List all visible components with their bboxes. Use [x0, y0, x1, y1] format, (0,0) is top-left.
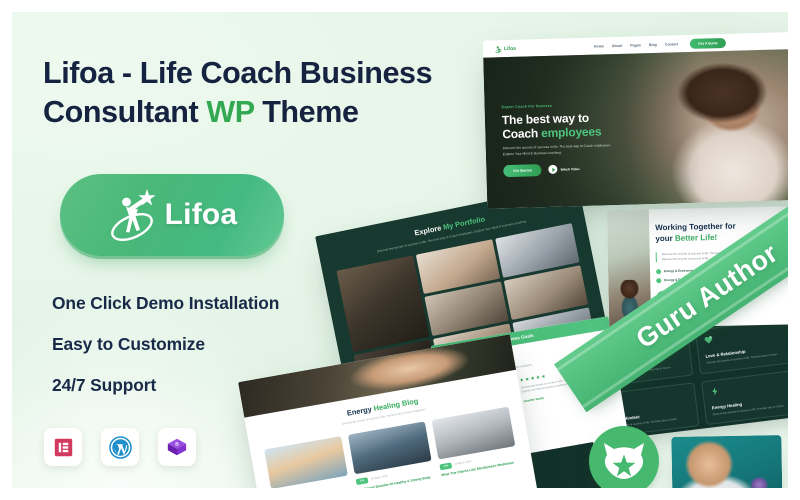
nav-item[interactable]: Home	[594, 44, 604, 48]
working-title-line1: Working Together for	[655, 222, 736, 233]
hero-paragraph: Discover the secrets of success in life.…	[503, 143, 621, 157]
star-figure-icon	[107, 187, 161, 243]
star-icon	[536, 375, 541, 380]
headline-part2: Theme	[254, 95, 358, 129]
star-icon	[519, 378, 524, 383]
feature-item: Easy to Customize	[52, 334, 382, 355]
headline-accent: WP	[206, 95, 254, 129]
promo-banner: Lifoa - Life Coach Business Consultant W…	[0, 0, 800, 500]
tech-badge-list: B	[44, 428, 196, 466]
hero-title-accent: employees	[541, 125, 602, 141]
blog-date: 25 March, 2024	[455, 460, 472, 466]
mockup-hero-nav-list: Home About Pages Blog Contact	[594, 42, 678, 48]
page-title: Lifoa - Life Coach Business Consultant W…	[43, 54, 463, 132]
svg-text:B: B	[175, 442, 179, 448]
blog-card[interactable]: Life 25 March, 2024 What The Clients Lik…	[264, 436, 351, 488]
nav-item[interactable]: Contact	[665, 42, 678, 46]
check-icon	[656, 269, 661, 274]
bootstrap-icon: B	[166, 436, 188, 458]
nav-item[interactable]: Pages	[630, 43, 641, 47]
star-icon	[541, 374, 546, 379]
elementor-icon	[54, 438, 73, 457]
play-icon	[549, 165, 558, 174]
portfolio-title-dark: Explore	[414, 223, 444, 238]
hero-photo-subject	[655, 60, 788, 204]
feature-card[interactable]: Energy Healing Discover the secrets of s…	[701, 369, 788, 425]
energy-icon	[709, 386, 719, 396]
star-figure-icon	[495, 45, 502, 53]
blog-tag: Life	[356, 477, 369, 485]
blog-date: 25 March, 2024	[371, 475, 388, 481]
badge-wordpress[interactable]	[101, 428, 139, 466]
blog-tag: Life	[439, 462, 452, 470]
hero-title: The best way to Coach employees	[502, 109, 653, 141]
wordpress-icon	[109, 436, 132, 459]
hero-play-label: Watch Video	[561, 167, 580, 172]
mockup-hero-logo: Lifoa	[495, 44, 516, 53]
star-icon	[525, 377, 530, 382]
lifoa-logo-button[interactable]: Lifoa	[60, 174, 284, 256]
lifoa-logo-text: Lifoa	[165, 198, 238, 232]
blog-thumb	[348, 421, 432, 474]
mockup-hero-image: Expert Coach For Success The best way to…	[483, 48, 788, 208]
hero-title-line2: Coach	[502, 126, 541, 141]
hero-primary-button[interactable]: Get Started	[503, 164, 542, 177]
heart-icon	[703, 335, 713, 345]
guru-cat-star-icon	[601, 441, 647, 481]
working-title-line2: your	[655, 234, 675, 243]
plant-decor	[746, 475, 772, 488]
badge-elementor[interactable]	[44, 428, 82, 466]
nav-item[interactable]: Blog	[649, 42, 657, 46]
portfolio-thumb[interactable]	[337, 256, 430, 353]
blog-card[interactable]: Life 25 March, 2024 Top Secret Benefits …	[348, 421, 435, 488]
mockup-hero-copy: Expert Coach For Success The best way to…	[502, 101, 654, 177]
blog-thumb	[432, 406, 516, 459]
mockup-hero-logo-text: Lifoa	[504, 45, 516, 51]
guru-author-seal	[589, 426, 659, 488]
mockup-coach-photo	[671, 435, 782, 488]
hero-eyebrow: Expert Coach For Success	[502, 101, 652, 109]
mockup-hero-cta-button[interactable]: Get A Quote	[690, 37, 726, 48]
nav-item[interactable]: About	[612, 43, 622, 47]
hero-actions: Get Started Watch Video	[503, 161, 653, 177]
badge-bootstrap[interactable]: B	[158, 428, 196, 466]
mockup-hero-page: Lifoa Home About Pages Blog Contact Get …	[483, 31, 788, 208]
blog-thumb	[264, 436, 348, 488]
hero-play-button[interactable]: Watch Video	[549, 164, 580, 174]
star-icon	[530, 376, 535, 381]
blog-card[interactable]: Life 25 March, 2024 What The Clients Lik…	[432, 406, 519, 478]
working-title-accent: Better Life!	[675, 233, 717, 243]
promo-panel: Lifoa - Life Coach Business Consultant W…	[12, 12, 788, 488]
check-icon	[656, 278, 661, 283]
